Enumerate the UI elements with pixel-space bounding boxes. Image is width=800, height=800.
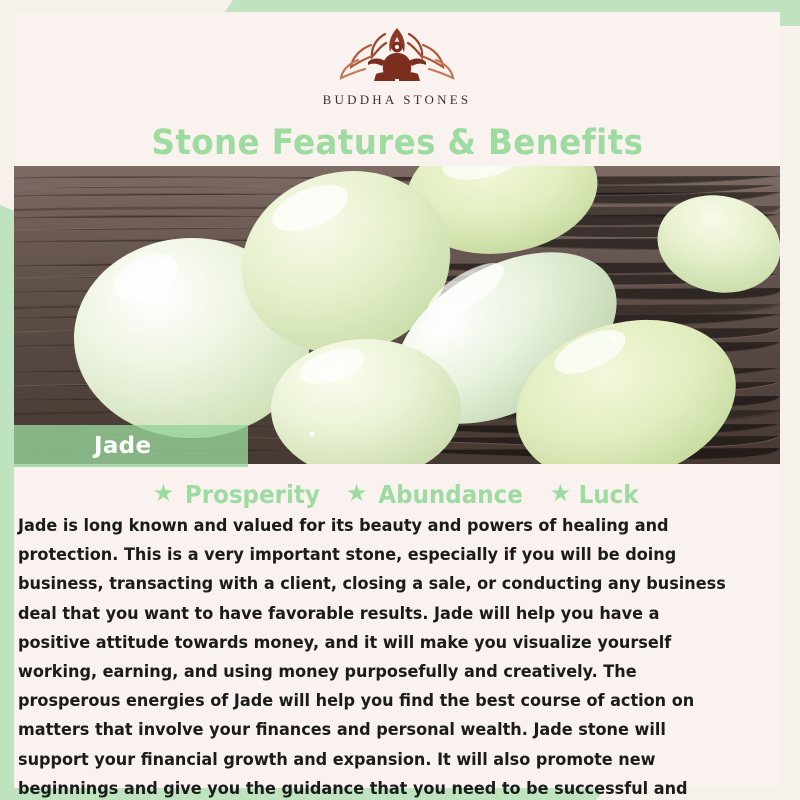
star-icon: ★ xyxy=(550,482,572,506)
brand-header: BUDDHA STONES xyxy=(14,12,780,120)
benefits-row: ★ Prosperity ★ Abundance ★ Luck xyxy=(14,477,780,511)
lotus-meditation-icon xyxy=(338,22,456,88)
stone-name-label: Jade xyxy=(94,433,151,459)
benefit-item-prosperity: ★ Prosperity xyxy=(153,480,326,509)
page-title: Stone Features & Benefits xyxy=(151,123,643,163)
star-icon: ★ xyxy=(346,482,368,506)
brand-wordmark: BUDDHA STONES xyxy=(323,92,472,108)
stone-infographic-card: BUDDHA STONES Stone Features & Benefits xyxy=(0,0,800,800)
benefit-label: Abundance xyxy=(379,480,524,509)
title-bar: Stone Features & Benefits xyxy=(14,120,780,166)
stone-description: Jade is long known and valued for its be… xyxy=(18,512,734,800)
benefit-label: Prosperity xyxy=(185,480,320,509)
benefit-item-luck: ★ Luck xyxy=(550,480,642,509)
stone-name-band: Jade xyxy=(14,425,248,467)
star-icon: ★ xyxy=(153,482,175,506)
benefit-item-abundance: ★ Abundance xyxy=(346,480,530,509)
stone-photo xyxy=(14,166,780,464)
benefit-label: Luck xyxy=(579,480,639,509)
